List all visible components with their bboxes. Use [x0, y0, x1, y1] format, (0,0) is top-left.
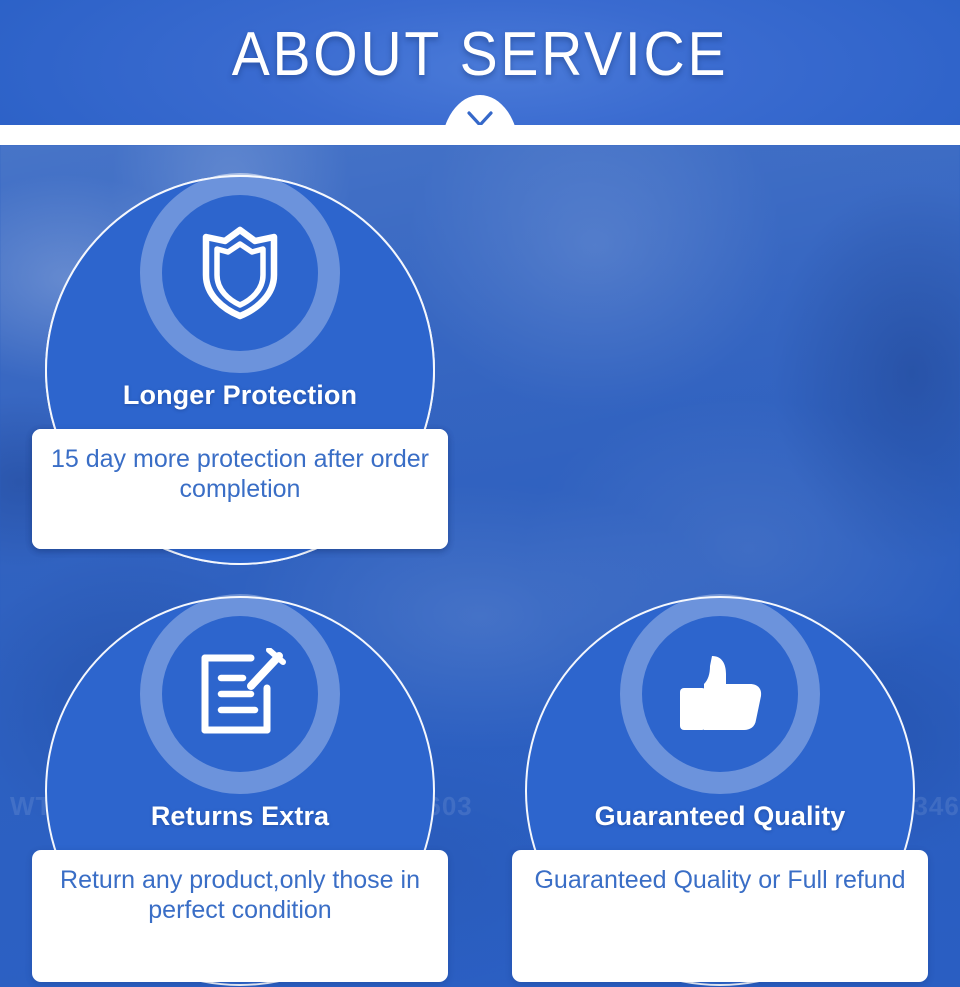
- card-title: Returns Extra: [0, 801, 480, 832]
- card-title: Guaranteed Quality: [480, 801, 960, 832]
- shield-icon: [180, 223, 300, 323]
- card-title: Longer Protection: [0, 380, 480, 411]
- card-description: 15 day more protection after order compl…: [46, 444, 434, 504]
- card-description: Return any product,only those in perfect…: [46, 865, 434, 925]
- service-card-guaranteed-quality[interactable]: Guaranteed Quality Guaranteed Quality or…: [480, 566, 960, 987]
- service-card-longer-protection[interactable]: Longer Protection 15 day more protection…: [0, 145, 480, 566]
- service-card-grid: On- Time Delivery Full refund if product…: [0, 145, 960, 987]
- page-title: ABOUT SERVICE: [38, 22, 921, 88]
- card-description-box: 15 day more protection after order compl…: [32, 429, 448, 549]
- thumbs-up-icon: [660, 644, 780, 744]
- header-divider: [0, 125, 960, 145]
- service-card-returns-extra[interactable]: Returns Extra Return any product,only th…: [0, 566, 480, 987]
- chevron-down-icon: [467, 111, 493, 125]
- card-description-box: Guaranteed Quality or Full refund: [512, 850, 928, 982]
- card-description-box: Return any product,only those in perfect…: [32, 850, 448, 982]
- about-service-banner: ABOUT SERVICE WTR 134603 134603: [0, 0, 960, 987]
- header-bar: ABOUT SERVICE: [0, 0, 960, 125]
- card-description: Guaranteed Quality or Full refund: [534, 865, 905, 895]
- header-notch: [441, 95, 519, 125]
- document-edit-icon: [180, 644, 300, 744]
